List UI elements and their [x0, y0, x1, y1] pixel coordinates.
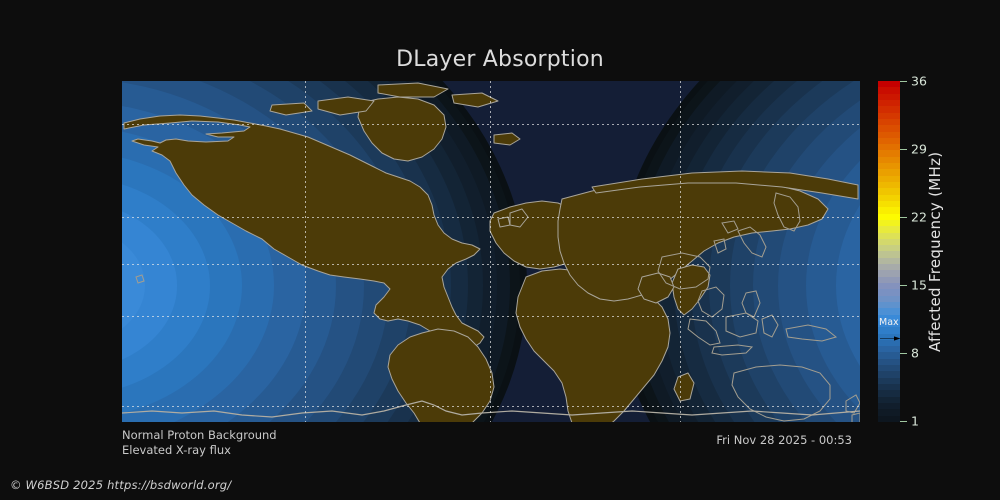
colorbar-tick-label: 15: [911, 278, 927, 293]
colorbar-tick-mark: [900, 149, 907, 150]
new-guinea-outline: [786, 325, 836, 341]
page-title: DLayer Absorption: [0, 47, 1000, 72]
graticule-latitude-line: [122, 316, 860, 317]
arabia-shape: [638, 273, 674, 303]
madagascar-shape: [674, 373, 694, 401]
colorbar-tick-label: 29: [911, 142, 927, 157]
map-timestamp: Fri Nov 28 2025 - 00:53: [0, 433, 852, 447]
land-shapes: [124, 83, 858, 422]
arctic-islands-2: [378, 83, 448, 97]
map-panel[interactable]: [122, 81, 860, 422]
new-zealand-outline-2: [852, 413, 860, 422]
colorbar-max-label: Max: [879, 318, 899, 328]
colorbar-tick-mark: [900, 421, 907, 422]
graticule-latitude-line: [122, 217, 860, 218]
ireland-shape: [498, 217, 510, 227]
greenland-shape: [358, 97, 446, 161]
colorbar-tick-label: 1: [911, 414, 919, 429]
graticule-longitude-line: [680, 81, 681, 422]
colorbar[interactable]: [878, 81, 900, 422]
copyright-footer: © W6BSD 2025 https://bsdworld.org/: [10, 478, 231, 492]
colorbar-tick-label: 36: [911, 74, 927, 89]
colorbar-tick-mark: [900, 81, 907, 82]
graticule-latitude-line: [122, 264, 860, 265]
graticule-latitude-line: [122, 406, 860, 407]
colorbar-tick-mark: [900, 217, 907, 218]
colorbar-tick-label: 8: [911, 346, 919, 361]
colorbar-tick-label: 22: [911, 210, 927, 225]
iceland-shape: [494, 133, 520, 145]
colorbar-tick-mark: [900, 285, 907, 286]
arctic-islands-4: [452, 93, 498, 107]
continents-layer: [122, 81, 860, 422]
indochina-outline: [698, 287, 724, 317]
colorbar-gradient: [878, 81, 900, 422]
graticule-longitude-line: [490, 81, 491, 422]
sulawesi-outline: [762, 315, 778, 337]
colorbar-segment: [878, 416, 900, 422]
colorbar-axis-label: Affected Frequency (MHz): [924, 81, 946, 422]
sumatra-outline: [688, 319, 720, 345]
hawaii-outline: [136, 275, 144, 283]
graticule-latitude-line: [122, 124, 860, 125]
colorbar-max-arrow-icon: [880, 334, 901, 343]
colorbar-tick-mark: [900, 353, 907, 354]
new-zealand-outline: [846, 395, 860, 413]
java-outline: [712, 345, 752, 355]
graticule-longitude-line: [305, 81, 306, 422]
